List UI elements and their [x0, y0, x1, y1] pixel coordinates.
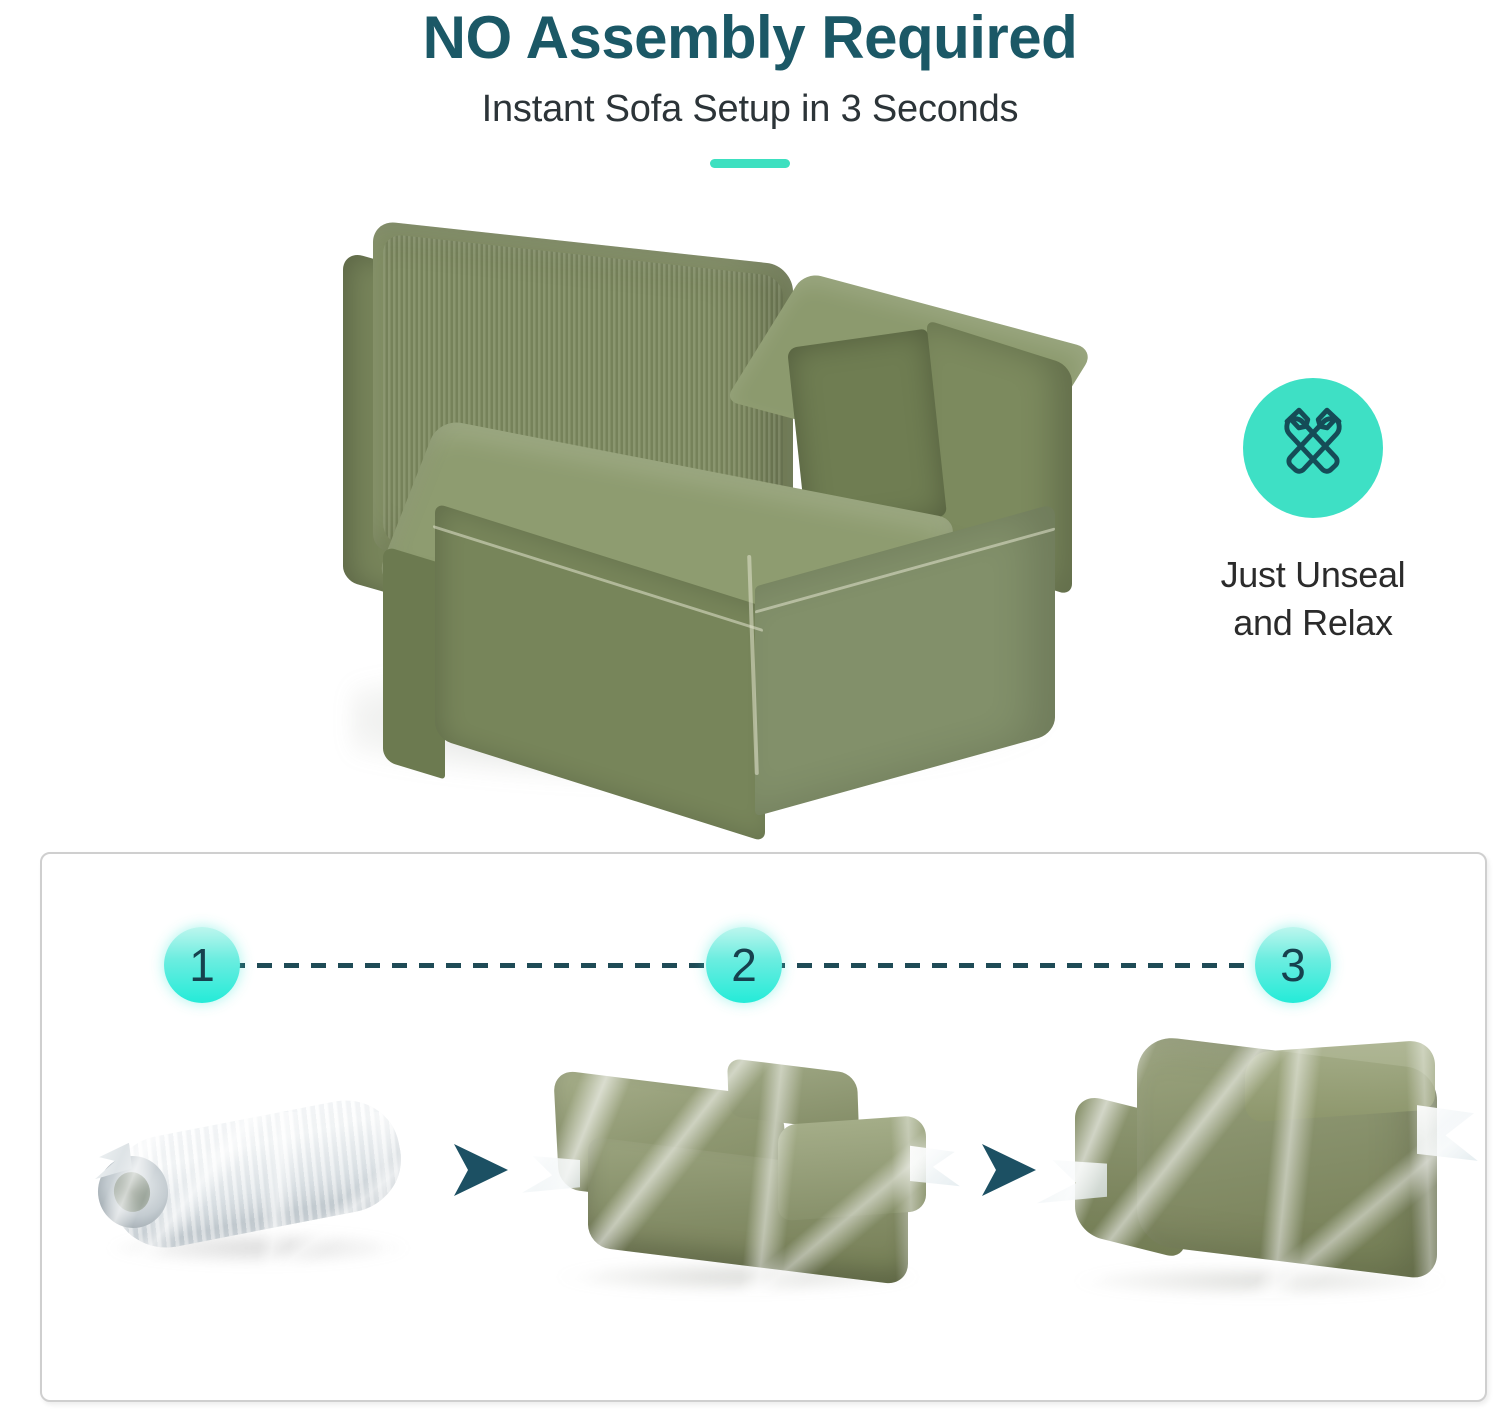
accent-divider — [710, 159, 790, 168]
feature-label: Just Unseal and Relax — [1148, 551, 1478, 646]
step-2-image-compressed-pack — [528, 1048, 958, 1296]
page-subtitle: Instant Sofa Setup in 3 Seconds — [0, 88, 1500, 131]
feature-label-line2: and Relax — [1148, 599, 1478, 647]
step-badge-2[interactable]: 2 — [706, 927, 782, 1003]
arrow-step-1-to-2 — [452, 1142, 510, 1198]
arrow-step-2-to-3 — [980, 1142, 1038, 1198]
step-3-image-expanded-sofa — [1045, 1028, 1475, 1298]
sofa-illustration — [335, 225, 1115, 805]
header: NO Assembly Required Instant Sofa Setup … — [0, 0, 1500, 200]
step-2-plastic-tail-left — [522, 1156, 580, 1196]
step-3-plastic-tail-right — [1417, 1104, 1479, 1162]
step-2-plastic-tail-right — [910, 1144, 962, 1188]
feature-label-line1: Just Unseal — [1148, 551, 1478, 599]
crossed-wrenches-icon — [1267, 400, 1359, 497]
feature-callout: Just Unseal and Relax — [1148, 378, 1478, 646]
step-2-cushion-slab-d — [778, 1115, 926, 1221]
step-1-image-rolled-package — [92, 1112, 422, 1272]
page-title: NO Assembly Required — [0, 0, 1500, 68]
step-badge-1[interactable]: 1 — [164, 927, 240, 1003]
step-badge-3[interactable]: 3 — [1255, 927, 1331, 1003]
feature-icon-circle — [1243, 378, 1383, 518]
step-3-top-fold — [1245, 1039, 1435, 1122]
